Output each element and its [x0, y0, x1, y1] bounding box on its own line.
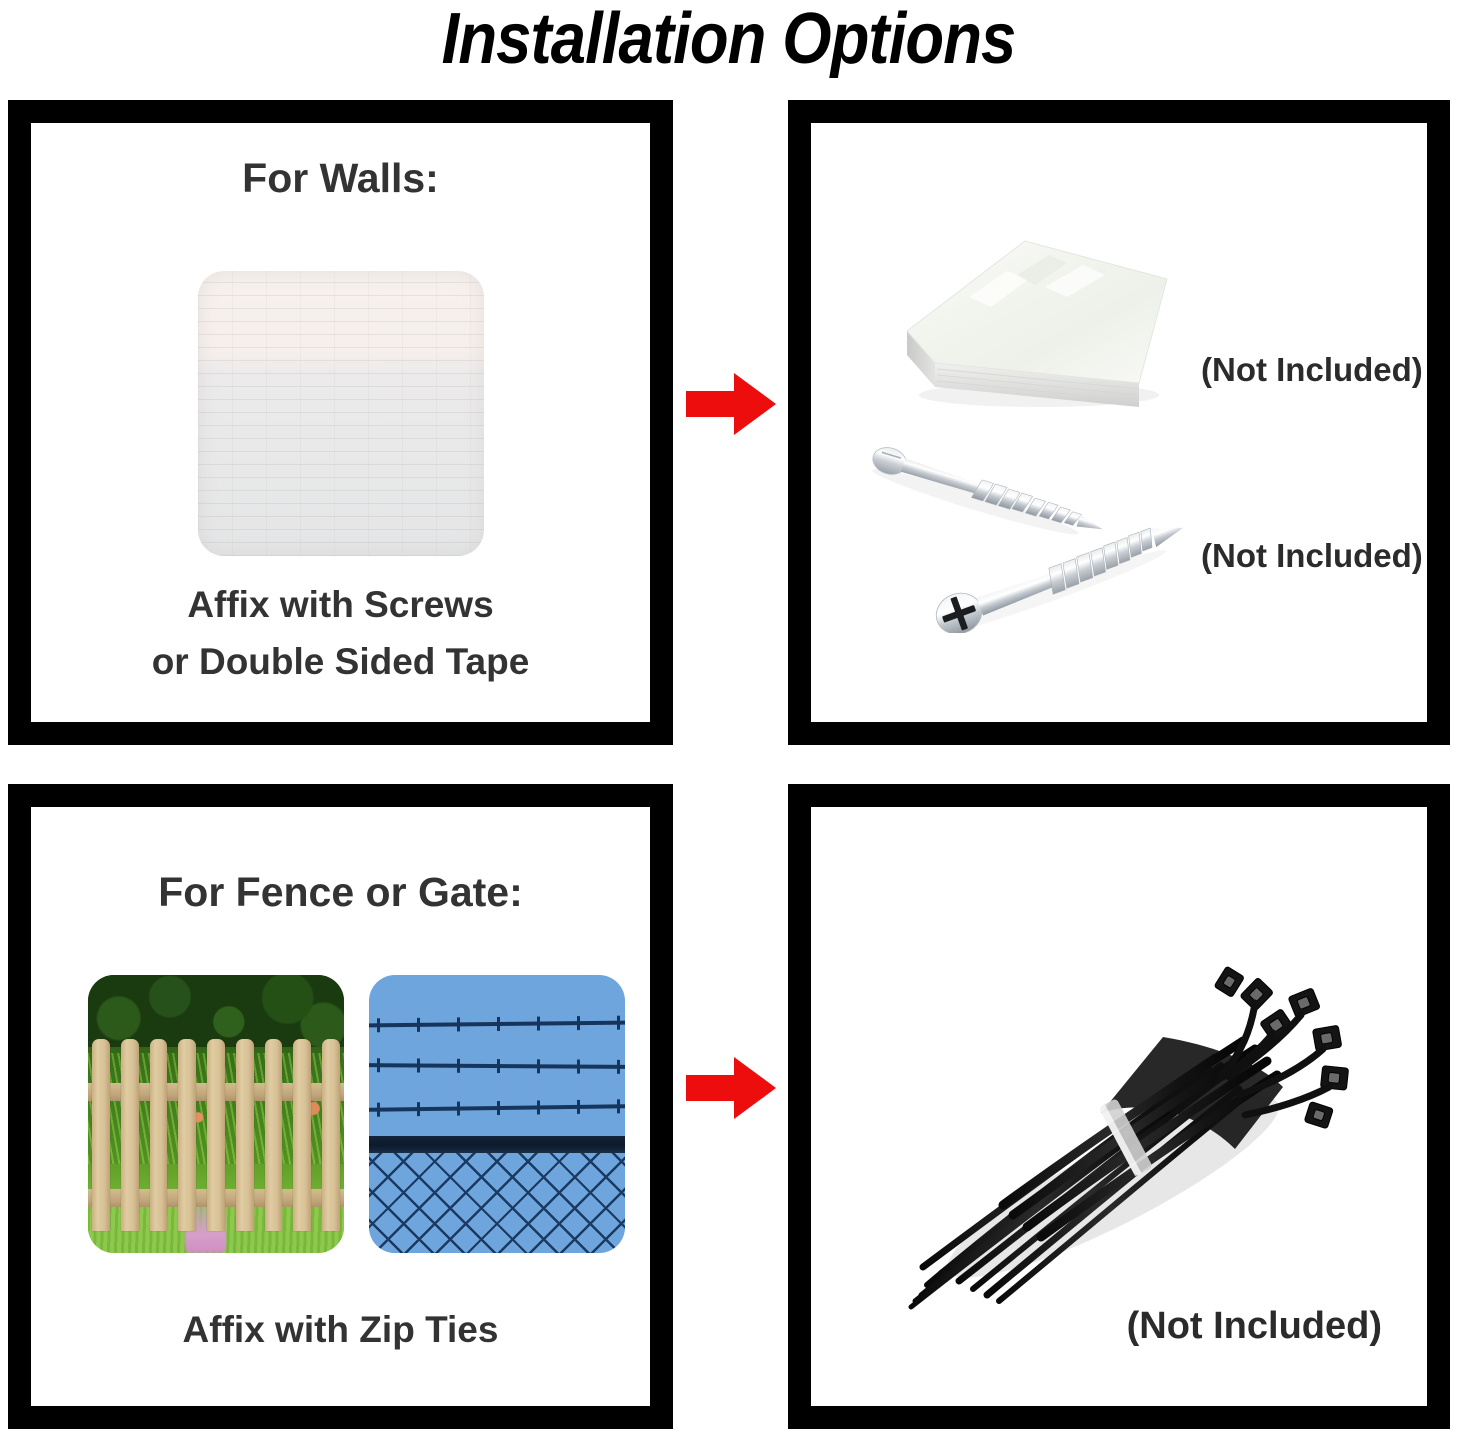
wood-screws-image	[867, 423, 1217, 633]
for-walls-caption-line-1: Affix with Screws	[31, 576, 650, 633]
panel-zip-ties: (Not Included)	[788, 784, 1450, 1429]
not-included-label-screws: (Not Included)	[1201, 537, 1423, 575]
black-zip-ties-bundle-image	[863, 937, 1363, 1337]
fence-top-rail	[369, 1136, 625, 1153]
panel-zip-ties-content: (Not Included)	[811, 807, 1427, 1406]
chain-link-barbed-wire-fence-photo	[369, 975, 625, 1253]
wooden-picket-fence-photo	[88, 975, 344, 1253]
double-sided-tape-stack-image	[899, 235, 1171, 410]
not-included-label-zip-ties: (Not Included)	[1127, 1305, 1382, 1348]
not-included-label-tape: (Not Included)	[1201, 351, 1423, 389]
fence-pickets	[88, 1039, 344, 1231]
for-fence-caption: Affix with Zip Ties	[31, 1301, 650, 1358]
hedge-foliage	[88, 975, 344, 1047]
picket-fence-scene	[88, 975, 344, 1253]
chain-link-scene	[369, 975, 625, 1253]
panel-wall-hardware: (Not Included)	[788, 100, 1450, 745]
barbed-wire-strand-2	[369, 1063, 625, 1069]
page-title: Installation Options	[87, 0, 1369, 82]
for-walls-caption-line-2: or Double Sided Tape	[31, 633, 650, 690]
panel-for-walls: For Walls: Affix with Screws or Double S…	[8, 100, 673, 745]
panel-for-fence-or-gate: For Fence or Gate:	[8, 784, 673, 1429]
red-arrow-right-icon	[686, 1055, 776, 1121]
white-brick-wall-photo	[198, 271, 484, 556]
barbed-wire-strand-1	[369, 1021, 625, 1028]
panel-wall-hardware-content: (Not Included)	[811, 123, 1427, 722]
panel-for-walls-content: For Walls: Affix with Screws or Double S…	[31, 123, 650, 722]
chain-link-mesh	[369, 1153, 625, 1253]
panel-for-fence-or-gate-content: For Fence or Gate:	[31, 807, 650, 1406]
for-walls-heading: For Walls:	[31, 155, 650, 202]
red-arrow-right-icon	[686, 371, 776, 437]
barbed-wire-strand-3	[369, 1104, 625, 1112]
for-walls-caption: Affix with Screws or Double Sided Tape	[31, 576, 650, 690]
for-fence-or-gate-heading: For Fence or Gate:	[31, 869, 650, 916]
